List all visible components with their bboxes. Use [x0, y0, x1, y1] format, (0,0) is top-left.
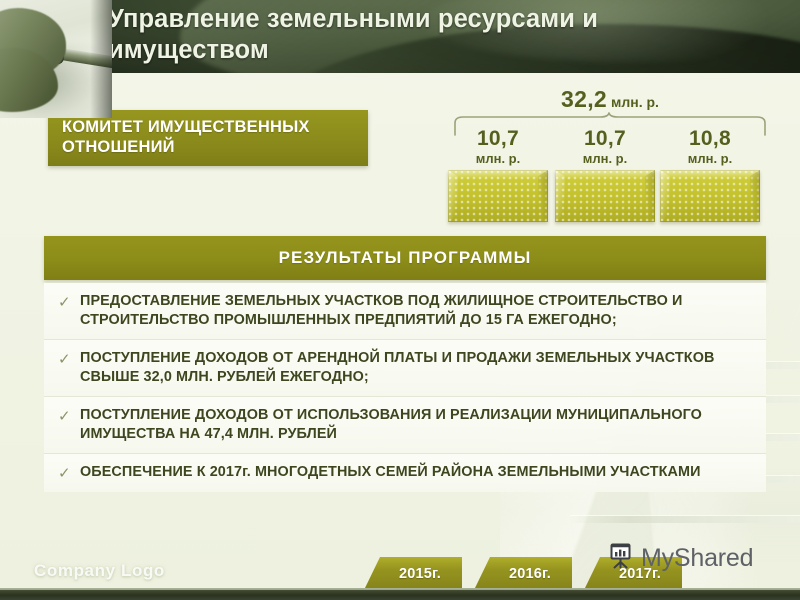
bar-chart: 10,7 млн. р. 10,7 млн. р. 10,8 млн. р.: [448, 128, 766, 224]
list-item: ✓ ПРЕДОСТАВЛЕНИЕ ЗЕМЕЛЬНЫХ УЧАСТКОВ ПОД …: [44, 283, 766, 340]
bar-unit-2: млн. р.: [555, 151, 655, 167]
list-item-text: ПОСТУПЛЕНИЕ ДОХОДОВ ОТ ИСПОЛЬЗОВАНИЯ И Р…: [80, 406, 754, 444]
check-icon: ✓: [58, 463, 80, 483]
list-item: ✓ ПОСТУПЛЕНИЕ ДОХОДОВ ОТ ИСПОЛЬЗОВАНИЯ И…: [44, 397, 766, 454]
results-banner: РЕЗУЛЬТАТЫ ПРОГРАММЫ: [44, 236, 766, 280]
year-tab-2015[interactable]: 2015г.: [364, 557, 462, 590]
bar-3: [660, 170, 760, 222]
presentation-chart-icon: [606, 541, 636, 576]
hand-with-pen-photo: [0, 0, 112, 118]
bar-2: [555, 170, 655, 222]
results-banner-label: РЕЗУЛЬТАТЫ ПРОГРАММЫ: [279, 248, 532, 268]
check-icon: ✓: [58, 292, 80, 312]
myshared-watermark: MyShared: [606, 541, 753, 576]
bottom-bar-highlight: [0, 588, 800, 590]
slide-header: Управление земельными ресурсами и имущес…: [0, 0, 800, 73]
year-tab-2016[interactable]: 2016г.: [474, 557, 572, 590]
check-icon: ✓: [58, 349, 80, 369]
photo-edge-fade: [90, 0, 112, 118]
list-item-text: ОБЕСПЕЧЕНИЕ К 2017г. МНОГОДЕТНЫХ СЕМЕЙ Р…: [80, 463, 754, 482]
list-item: ✓ ПОСТУПЛЕНИЕ ДОХОДОВ ОТ АРЕНДНОЙ ПЛАТЫ …: [44, 340, 766, 397]
chart-total-label: 32,2млн. р.: [455, 86, 765, 113]
page-title: Управление земельными ресурсами и имущес…: [108, 4, 708, 66]
bar-column-2: 10,7 млн. р.: [555, 128, 655, 222]
list-item: ✓ ОБЕСПЕЧЕНИЕ К 2017г. МНОГОДЕТНЫХ СЕМЕЙ…: [44, 454, 766, 492]
chart-total-value: 32,2: [561, 86, 607, 112]
bar-1: [448, 170, 548, 222]
myshared-label: MyShared: [641, 544, 753, 573]
committee-label: КОМИТЕТ ИМУЩЕСТВЕННЫХ ОТНОШЕНИЙ: [62, 117, 354, 157]
check-icon: ✓: [58, 406, 80, 426]
list-item-text: ПОСТУПЛЕНИЕ ДОХОДОВ ОТ АРЕНДНОЙ ПЛАТЫ И …: [80, 349, 754, 387]
committee-box: КОМИТЕТ ИМУЩЕСТВЕННЫХ ОТНОШЕНИЙ: [48, 110, 368, 166]
company-logo-placeholder: Company Logo: [34, 561, 165, 581]
bar-unit-1: млн. р.: [448, 151, 548, 167]
slide: Управление земельными ресурсами и имущес…: [0, 0, 800, 600]
bar-value-2: 10,7: [555, 128, 655, 150]
bar-value-3: 10,8: [660, 128, 760, 150]
results-list: ✓ ПРЕДОСТАВЛЕНИЕ ЗЕМЕЛЬНЫХ УЧАСТКОВ ПОД …: [44, 283, 766, 492]
bar-value-1: 10,7: [448, 128, 548, 150]
bar-column-1: 10,7 млн. р.: [448, 128, 548, 222]
list-item-text: ПРЕДОСТАВЛЕНИЕ ЗЕМЕЛЬНЫХ УЧАСТКОВ ПОД ЖИ…: [80, 292, 754, 330]
chart-total-unit: млн. р.: [611, 94, 659, 110]
bar-column-3: 10,8 млн. р.: [660, 128, 760, 222]
bar-unit-3: млн. р.: [660, 151, 760, 167]
bottom-bar: [0, 588, 800, 600]
